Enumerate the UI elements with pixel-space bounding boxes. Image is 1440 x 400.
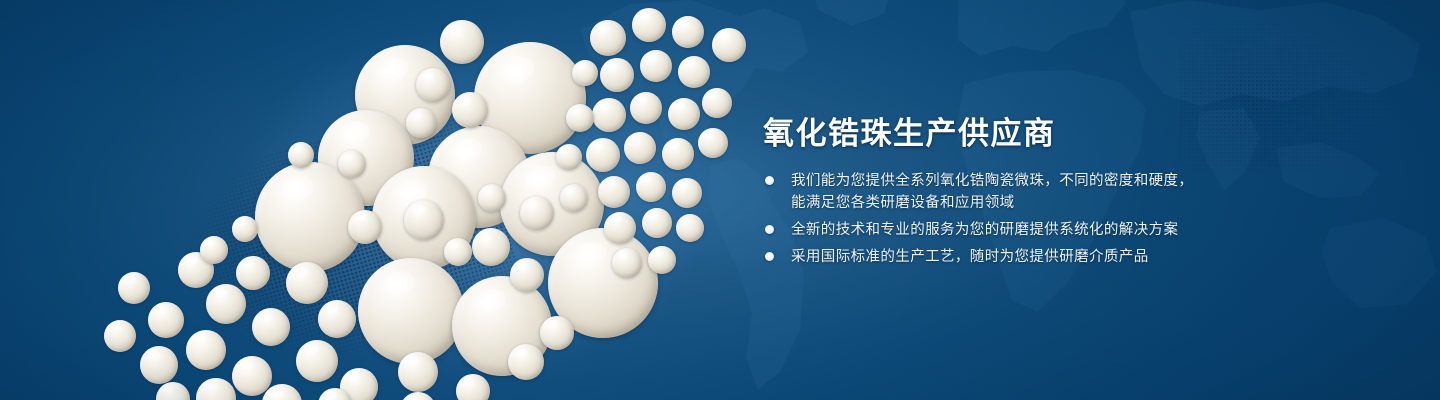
list-item-text: 我们能为您提供全系列氧化锆陶瓷微珠，不同的密度和硬度， 能满足您各类研磨设备和应… bbox=[791, 170, 1193, 214]
list-item-text: 全新的技术和专业的服务为您的研磨提供系统化的解决方案 bbox=[791, 219, 1178, 241]
list-item-line1: 采用国际标准的生产工艺，随时为您提供研磨介质产品 bbox=[791, 249, 1149, 265]
feature-list: 我们能为您提供全系列氧化锆陶瓷微珠，不同的密度和硬度， 能满足您各类研磨设备和应… bbox=[765, 170, 1385, 273]
list-item-text: 采用国际标准的生产工艺，随时为您提供研磨介质产品 bbox=[791, 246, 1149, 268]
bullet-dot-icon bbox=[765, 252, 774, 261]
page-title: 氧化锆珠生产供应商 bbox=[763, 108, 1056, 153]
bullet-dot-icon bbox=[765, 225, 774, 234]
list-item: 全新的技术和专业的服务为您的研磨提供系统化的解决方案 bbox=[765, 219, 1385, 241]
list-item-line2: 能满足您各类研磨设备和应用领域 bbox=[791, 192, 1193, 214]
bullet-dot-icon bbox=[765, 176, 774, 185]
list-item: 采用国际标准的生产工艺，随时为您提供研磨介质产品 bbox=[765, 246, 1385, 268]
list-item-line1: 我们能为您提供全系列氧化锆陶瓷微珠，不同的密度和硬度， bbox=[791, 173, 1193, 189]
list-item-line1: 全新的技术和专业的服务为您的研磨提供系统化的解决方案 bbox=[791, 222, 1178, 238]
list-item: 我们能为您提供全系列氧化锆陶瓷微珠，不同的密度和硬度， 能满足您各类研磨设备和应… bbox=[765, 170, 1385, 214]
banner-content: 氧化锆珠生产供应商 我们能为您提供全系列氧化锆陶瓷微珠，不同的密度和硬度， 能满… bbox=[763, 0, 1403, 400]
product-banner: 氧化锆珠生产供应商 我们能为您提供全系列氧化锆陶瓷微珠，不同的密度和硬度， 能满… bbox=[0, 0, 1440, 400]
